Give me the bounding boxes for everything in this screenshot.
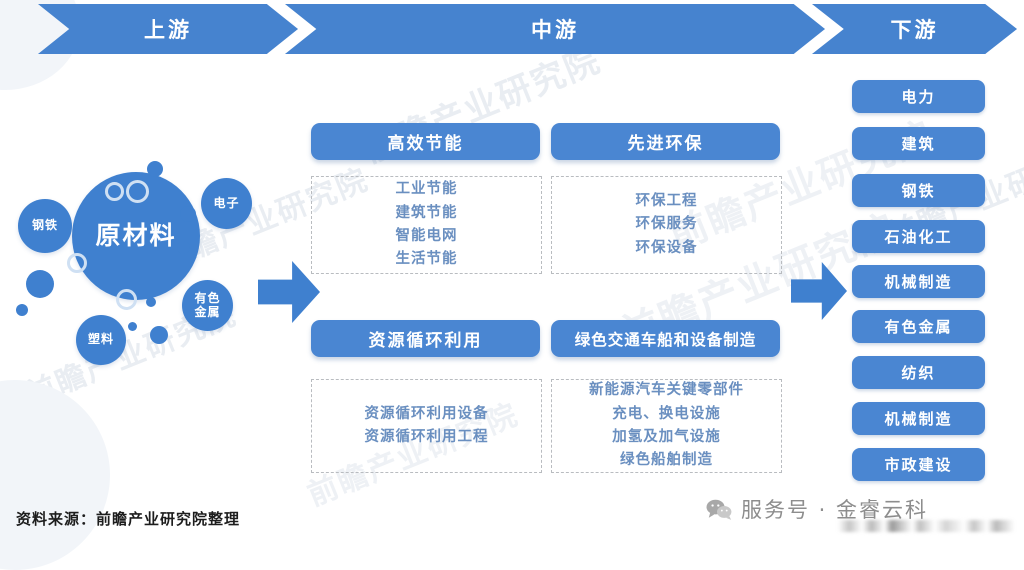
list-item: 环保工程 [636,190,698,213]
midstream-title-advanced-environmental[interactable]: 先进环保 [551,123,780,160]
bubble-steel[interactable]: 钢铁 [18,199,72,253]
midstream-box-resource-recycling: 资源循环利用设备 资源循环利用工程 [311,379,542,473]
decor-bubble-1 [147,161,163,177]
downstream-item-label: 纺织 [901,362,935,383]
downstream-item-label: 市政建设 [884,454,952,475]
stage-banner-upstream[interactable]: 上游 [38,4,298,54]
downstream-item-municipal[interactable]: 市政建设 [852,448,985,481]
midstream-title-advanced-environmental-label: 先进环保 [628,129,704,154]
midstream-title-green-transport-label: 绿色交通车船和设备制造 [575,328,757,350]
decor-bubble-ring-1 [105,182,124,201]
decor-bubble-8 [177,241,190,254]
source-note: 资料来源：前瞻产业研究院整理 [16,508,240,529]
bubble-raw-materials-label: 原材料 [95,222,176,250]
decor-bubble-5 [146,297,156,307]
downstream-item-label: 建筑 [901,133,935,154]
downstream-item-label: 机械制造 [884,271,952,292]
downstream-item-steel[interactable]: 钢铁 [852,174,985,207]
bubble-steel-label: 钢铁 [32,219,58,232]
midstream-title-green-transport[interactable]: 绿色交通车船和设备制造 [551,320,780,357]
downstream-item-machinery-2[interactable]: 机械制造 [852,402,985,435]
downstream-item-machinery-1[interactable]: 机械制造 [852,265,985,298]
decor-bubble-7 [150,326,168,344]
midstream-box-advanced-environmental: 环保工程 环保服务 环保设备 [551,176,782,274]
decor-bubble-2 [180,206,196,222]
list-item: 环保设备 [636,237,698,260]
decor-bubble-ring-2 [126,180,149,203]
wechat-icon [706,499,732,520]
stage-banner-downstream[interactable]: 下游 [812,4,1017,54]
arrow-midstream-to-downstream [791,262,847,320]
bubble-nonferrous-metal[interactable]: 有色金属 [182,280,233,331]
decor-bubble-ring-4 [116,289,137,310]
blurred-footer-text [838,520,1024,532]
midstream-title-energy-saving-label: 高效节能 [388,129,464,154]
downstream-item-textile[interactable]: 纺织 [852,356,985,389]
list-item: 充电、换电设施 [612,403,721,426]
list-item: 建筑节能 [396,202,458,225]
bubble-electronics[interactable]: 电子 [201,178,252,229]
downstream-item-construction[interactable]: 建筑 [852,127,985,160]
decor-bubble-3 [26,270,54,298]
list-item: 生活节能 [396,248,458,271]
downstream-item-power[interactable]: 电力 [852,80,985,113]
list-item: 工业节能 [396,178,458,201]
downstream-item-label: 电力 [901,86,935,107]
decor-bubble-4 [16,304,28,316]
downstream-item-label: 机械制造 [884,408,952,429]
midstream-title-resource-recycling[interactable]: 资源循环利用 [311,320,540,357]
scan-artifact-corner [0,380,110,570]
decor-bubble-6 [128,322,137,331]
list-item: 智能电网 [396,225,458,248]
downstream-item-nonferrous-metal[interactable]: 有色金属 [852,310,985,343]
midstream-title-resource-recycling-label: 资源循环利用 [369,326,483,351]
downstream-item-petrochemical[interactable]: 石油化工 [852,220,985,253]
list-item: 新能源汽车关键零部件 [589,379,744,402]
list-item: 加氢及加气设施 [612,426,721,449]
bubble-plastic-label: 塑料 [88,333,114,346]
downstream-item-label: 石油化工 [884,226,952,247]
stage-banner-upstream-label: 上游 [144,14,192,44]
midstream-box-energy-saving: 工业节能 建筑节能 智能电网 生活节能 [311,176,542,274]
decor-bubble-ring-3 [67,253,87,273]
midstream-title-energy-saving[interactable]: 高效节能 [311,123,540,160]
stage-banner-downstream-label: 下游 [891,14,939,44]
bubble-nonferrous-metal-label: 有色金属 [194,292,220,318]
downstream-item-label: 有色金属 [884,316,952,337]
stage-banner-midstream-label: 中游 [531,14,579,44]
list-item: 资源循环利用工程 [365,426,489,449]
stage-banner-midstream[interactable]: 中游 [285,4,825,54]
midstream-box-green-transport: 新能源汽车关键零部件 充电、换电设施 加氢及加气设施 绿色船舶制造 [551,379,782,473]
downstream-item-label: 钢铁 [901,180,935,201]
list-item: 资源循环利用设备 [365,403,489,426]
list-item: 绿色船舶制造 [620,449,713,472]
diagram-canvas: 前瞻产业研究院 前瞻产业研究院 前瞻产业研究院 前瞻产业研究院 前瞻产业研究院 … [0,0,1024,538]
list-item: 环保服务 [636,213,698,236]
bubble-electronics-label: 电子 [213,197,239,210]
bubble-plastic[interactable]: 塑料 [76,315,126,365]
